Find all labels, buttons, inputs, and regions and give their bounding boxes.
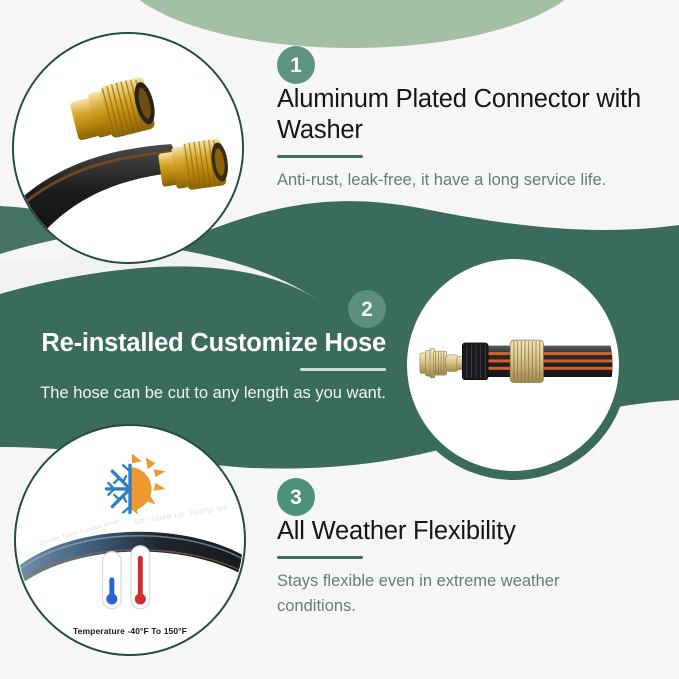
feature-photo-1 (12, 32, 244, 264)
hot-thermometer-icon (131, 546, 150, 609)
feature-description-3: Stays flexible even in extreme weather c… (277, 569, 627, 619)
feature-title-2: Re-installed Customize Hose (26, 328, 386, 359)
feature-block-3: 3 All Weather Flexibility Stays flexible… (277, 478, 627, 619)
feature-description-2: The hose can be cut to any length as you… (26, 381, 386, 406)
brass-connector-illustration (14, 34, 242, 262)
feature-photo-2 (398, 250, 628, 480)
infographic-canvas: 5/8" 16MM I.D. 150PSI WP Giraffe Tools G… (0, 0, 679, 679)
feature-block-1: 1 Aluminum Plated Connector with Washer … (277, 46, 647, 193)
feature-number-badge-2: 2 (348, 290, 386, 328)
title-divider-1 (277, 155, 363, 158)
feature-block-2: 2 Re-installed Customize Hose The hose c… (26, 290, 386, 406)
title-divider-3 (277, 556, 363, 559)
badge-row-2: 2 (26, 290, 386, 328)
feature-description-1: Anti-rust, leak-free, it have a long ser… (277, 168, 647, 193)
feature-title-3: All Weather Flexibility (277, 516, 627, 547)
feature-photo-3: 5/8" 16MM I.D. 150PSI WP Giraffe Tools G… (14, 424, 246, 656)
feature-title-1: Aluminum Plated Connector with Washer (277, 84, 647, 146)
cold-thermometer-icon (102, 552, 121, 609)
temperature-caption: Temperature -40°F To 150°F (16, 626, 244, 636)
feature-number-badge-1: 1 (277, 46, 315, 84)
title-divider-2 (300, 368, 386, 371)
feature-number-badge-3: 3 (277, 478, 315, 516)
hose-fitting-assembly-illustration (407, 259, 619, 471)
